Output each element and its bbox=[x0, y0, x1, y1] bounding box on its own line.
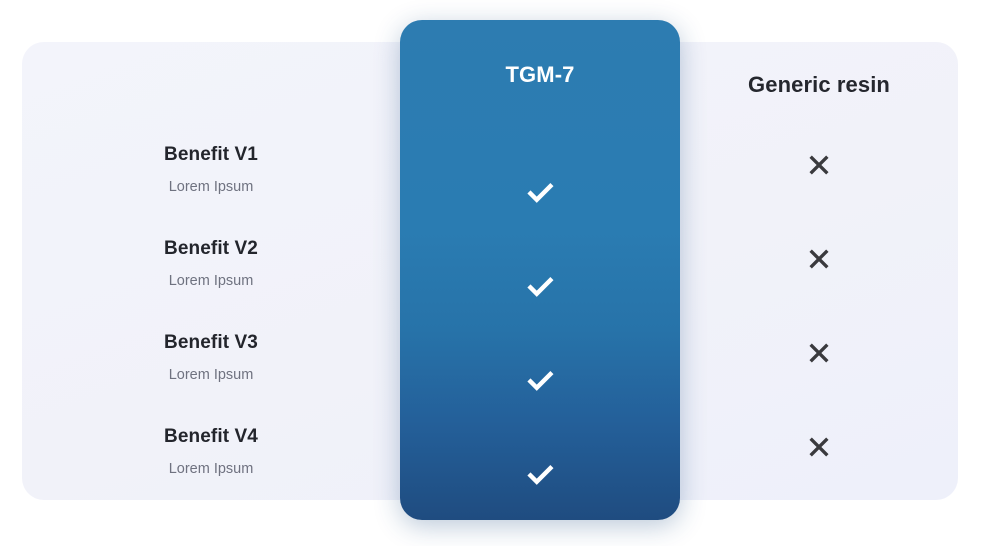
featured-cell bbox=[400, 332, 680, 426]
featured-cell bbox=[400, 144, 680, 238]
benefit-cell: Benefit V1 Lorem Ipsum bbox=[22, 144, 400, 196]
benefit-subtitle: Lorem Ipsum bbox=[22, 461, 400, 478]
benefit-cell: Benefit V2 Lorem Ipsum bbox=[22, 238, 400, 290]
cross-icon bbox=[806, 340, 832, 366]
cross-icon bbox=[806, 434, 832, 460]
featured-cell bbox=[400, 238, 680, 332]
generic-resin-cell bbox=[680, 246, 958, 277]
comparison-table: Generic resin Benefit V1 Lorem Ipsum Ben… bbox=[0, 0, 990, 546]
generic-resin-cell bbox=[680, 152, 958, 183]
tgm7-label: TGM-7 bbox=[506, 62, 575, 88]
benefit-subtitle: Lorem Ipsum bbox=[22, 367, 400, 384]
benefit-title: Benefit V4 bbox=[22, 426, 400, 448]
cross-icon bbox=[806, 246, 832, 272]
benefit-title: Benefit V1 bbox=[22, 144, 400, 166]
check-icon bbox=[525, 270, 555, 300]
generic-resin-cell bbox=[680, 434, 958, 465]
check-icon bbox=[525, 364, 555, 394]
column-header-generic-resin: Generic resin bbox=[680, 72, 958, 98]
benefit-cell: Benefit V3 Lorem Ipsum bbox=[22, 332, 400, 384]
featured-cell bbox=[400, 426, 680, 520]
featured-column-header: TGM-7 bbox=[400, 20, 680, 130]
cross-icon bbox=[806, 152, 832, 178]
benefit-subtitle: Lorem Ipsum bbox=[22, 273, 400, 290]
benefit-title: Benefit V3 bbox=[22, 332, 400, 354]
check-icon bbox=[525, 458, 555, 488]
benefit-title: Benefit V2 bbox=[22, 238, 400, 260]
check-icon bbox=[525, 176, 555, 206]
generic-resin-label: Generic resin bbox=[748, 72, 890, 97]
generic-resin-cell bbox=[680, 340, 958, 371]
featured-column-tgm7[interactable]: TGM-7 bbox=[400, 20, 680, 520]
benefit-cell: Benefit V4 Lorem Ipsum bbox=[22, 426, 400, 478]
benefit-subtitle: Lorem Ipsum bbox=[22, 179, 400, 196]
